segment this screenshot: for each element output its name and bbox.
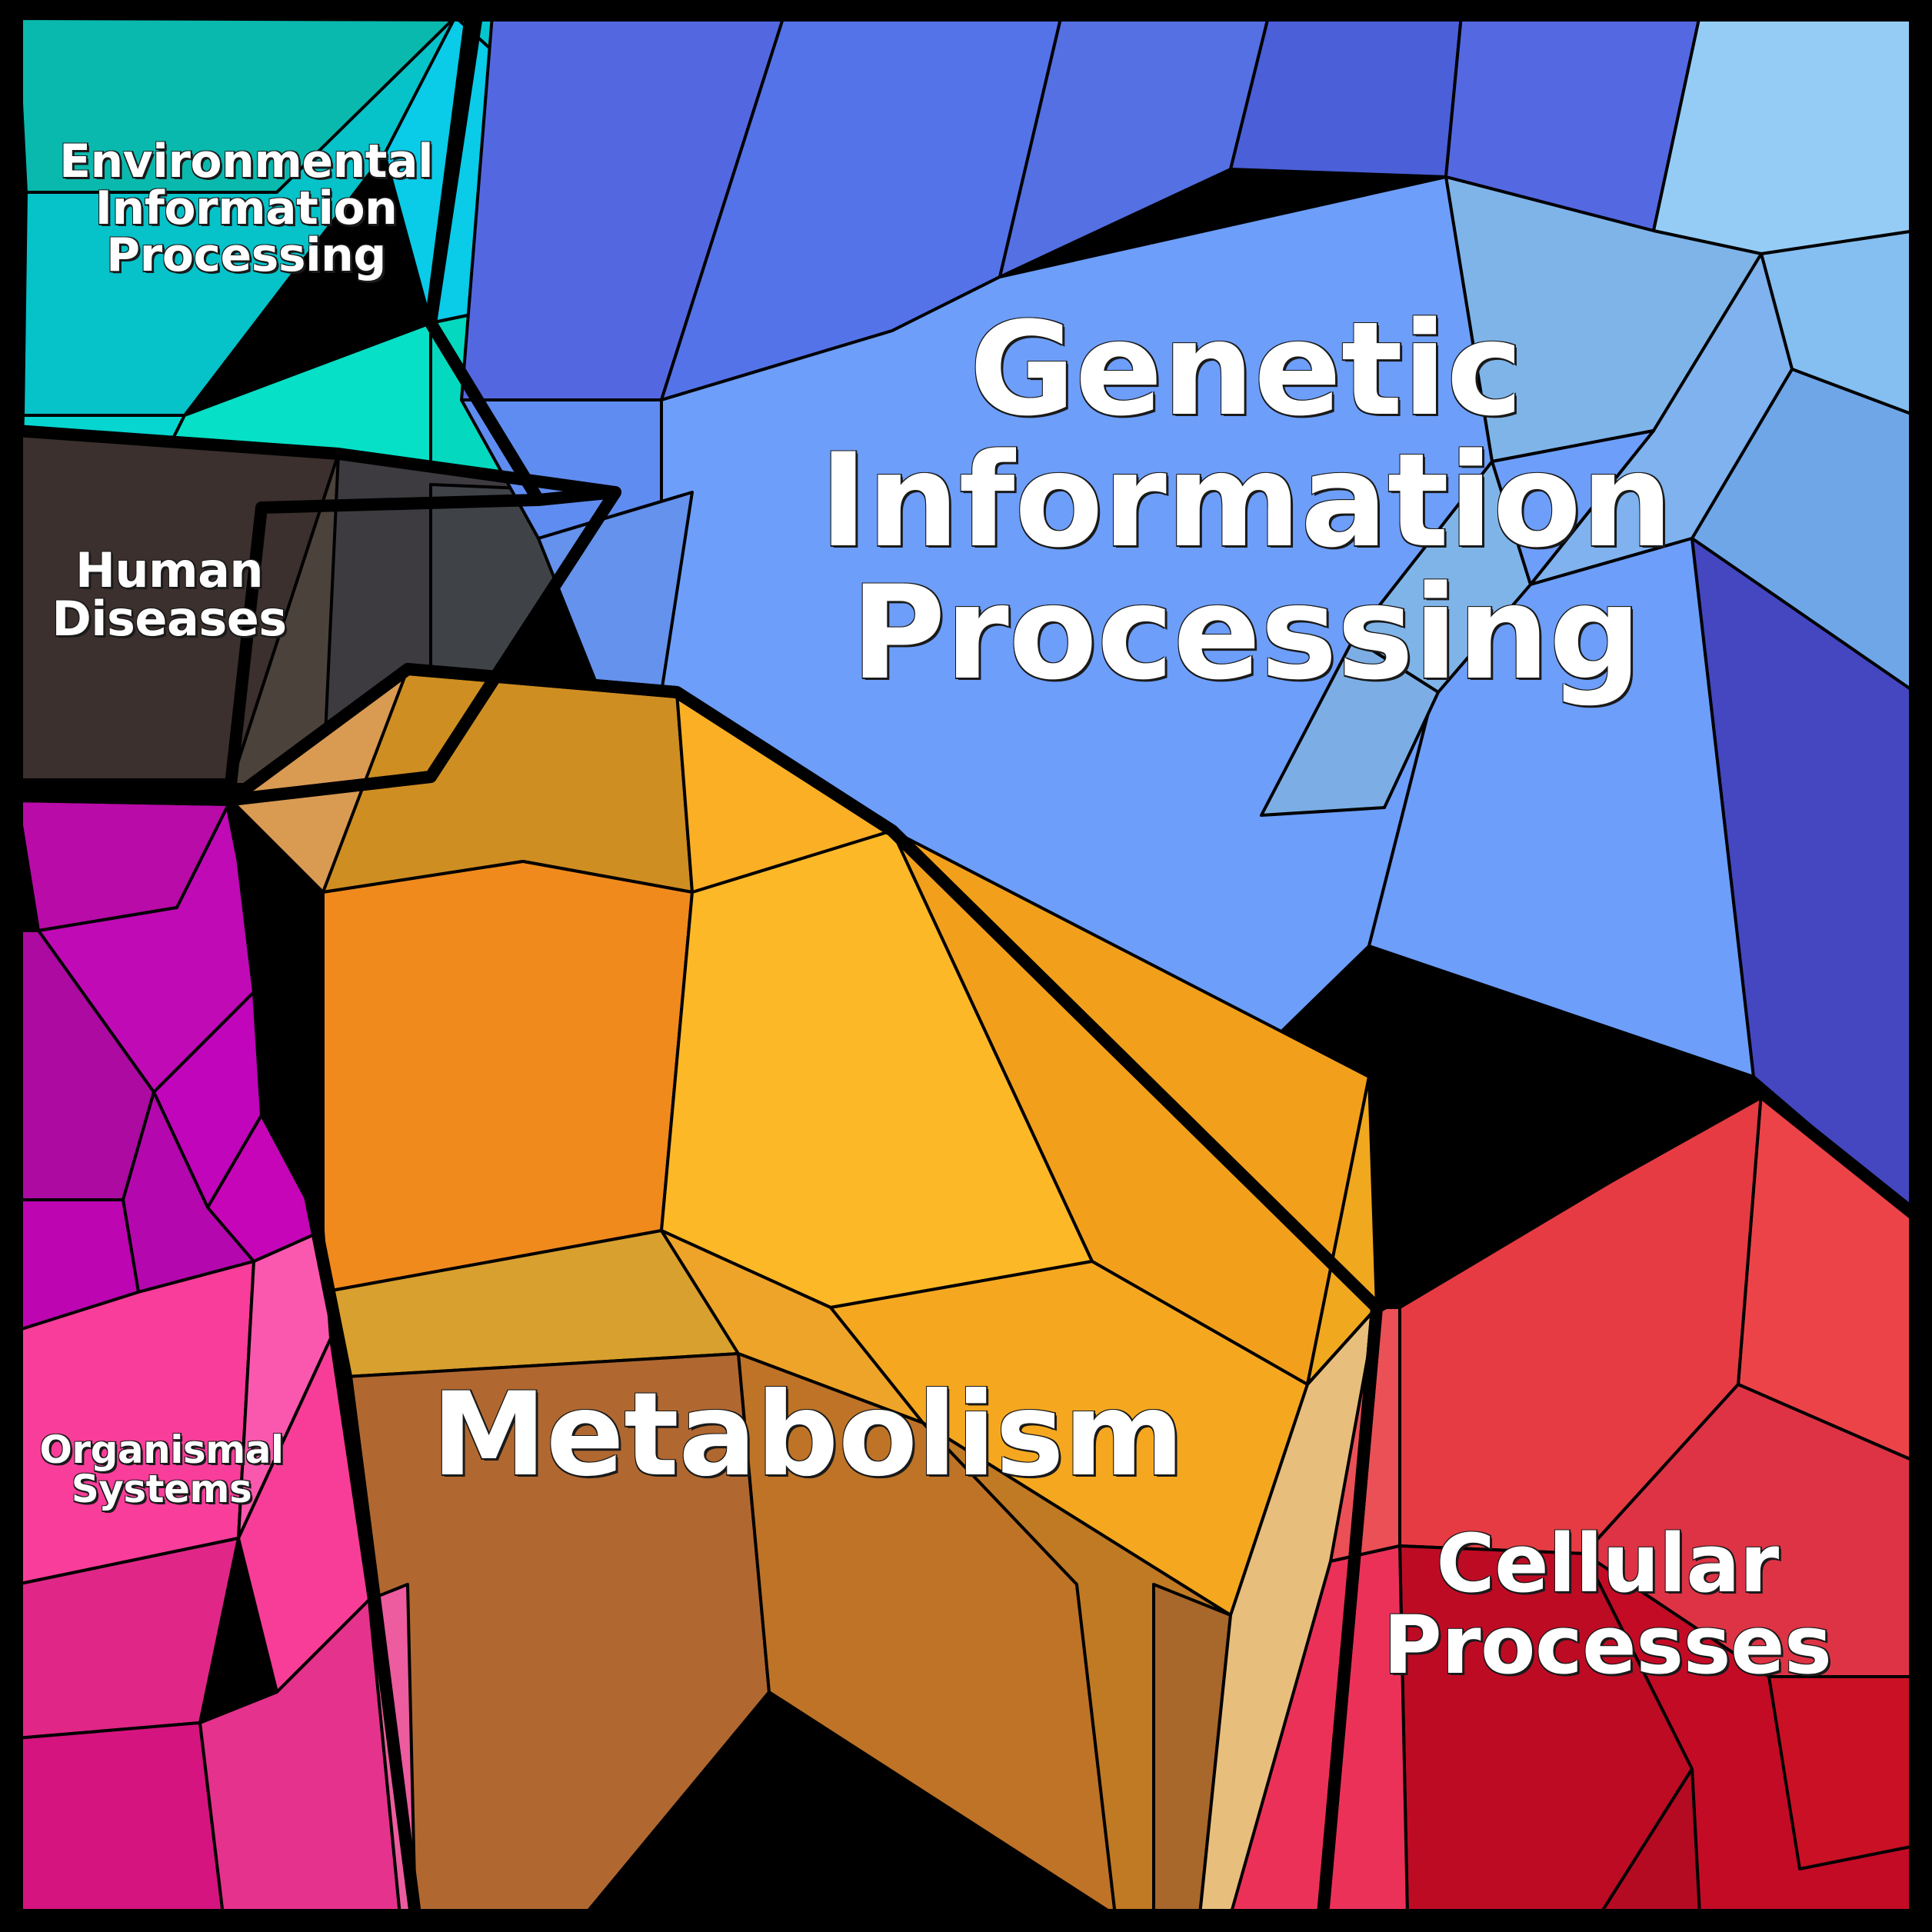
voronoi-treemap-figure: EnvironmentalInformationProcessing Human…: [0, 0, 1932, 1932]
voronoi-cell[interactable]: [1231, 14, 1461, 177]
voronoi-diagram: [0, 0, 1932, 1932]
voronoi-cell[interactable]: [17, 1723, 223, 1915]
voronoi-cell[interactable]: [323, 861, 692, 1292]
voronoi-cell[interactable]: [1654, 15, 1915, 254]
